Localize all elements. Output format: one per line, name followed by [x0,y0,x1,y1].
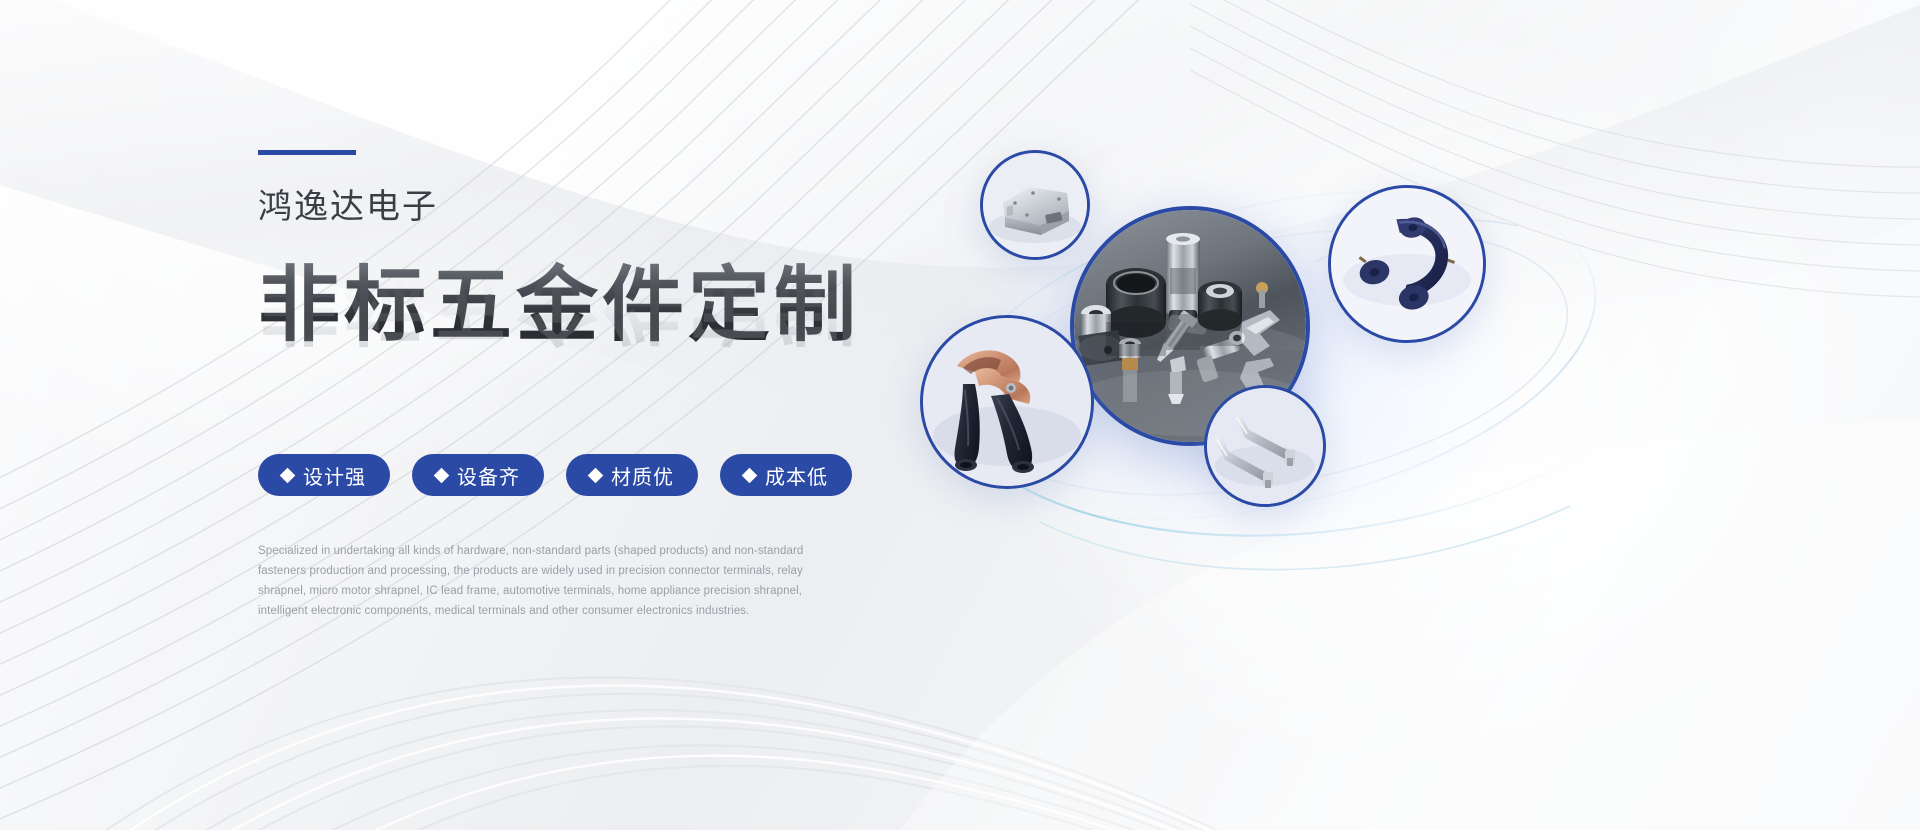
brand-name: 鸿逸达电子 [258,189,898,226]
feature-pill-cost[interactable]: 成本低 [720,454,852,496]
headline-block: 非标五金件定制 非标五金件定制 [258,260,898,392]
feature-pill-label: 设计强 [303,461,366,490]
diamond-icon [588,468,604,484]
product-bubble-retaining-ring[interactable] [1328,185,1486,343]
banner-description: Specialized in undertaking all kinds of … [258,542,828,621]
product-bubble-clamp[interactable] [920,315,1094,489]
hero-banner: 鸿逸达电子 非标五金件定制 非标五金件定制 设计强 设备齐 材质优 成本低 [0,0,1920,830]
accent-rule [258,150,356,155]
feature-pill-label: 设备齐 [457,461,520,490]
navy-retaining-ring-image [1331,188,1483,340]
product-bubble-terminals[interactable] [1204,385,1326,507]
feature-pill-label: 成本低 [765,461,828,490]
feature-pill-design[interactable]: 设计强 [258,454,390,496]
diamond-icon [742,468,758,484]
feature-pill-label: 材质优 [611,461,674,490]
banner-copy: 鸿逸达电子 非标五金件定制 非标五金件定制 设计强 设备齐 材质优 成本低 [258,150,898,633]
feature-pill-equipment[interactable]: 设备齐 [412,454,544,496]
feature-pill-row: 设计强 设备齐 材质优 成本低 [258,454,898,496]
sheet-metal-enclosure-image [983,153,1087,257]
diamond-icon [434,468,450,484]
bent-metal-terminals-image [1207,388,1323,504]
product-showcase [920,150,1680,580]
diamond-icon [280,468,296,484]
copper-battery-clamp-image [923,318,1091,486]
feature-pill-material[interactable]: 材质优 [566,454,698,496]
page-title: 非标五金件定制 [258,260,860,352]
product-bubble-enclosure[interactable] [980,150,1090,260]
